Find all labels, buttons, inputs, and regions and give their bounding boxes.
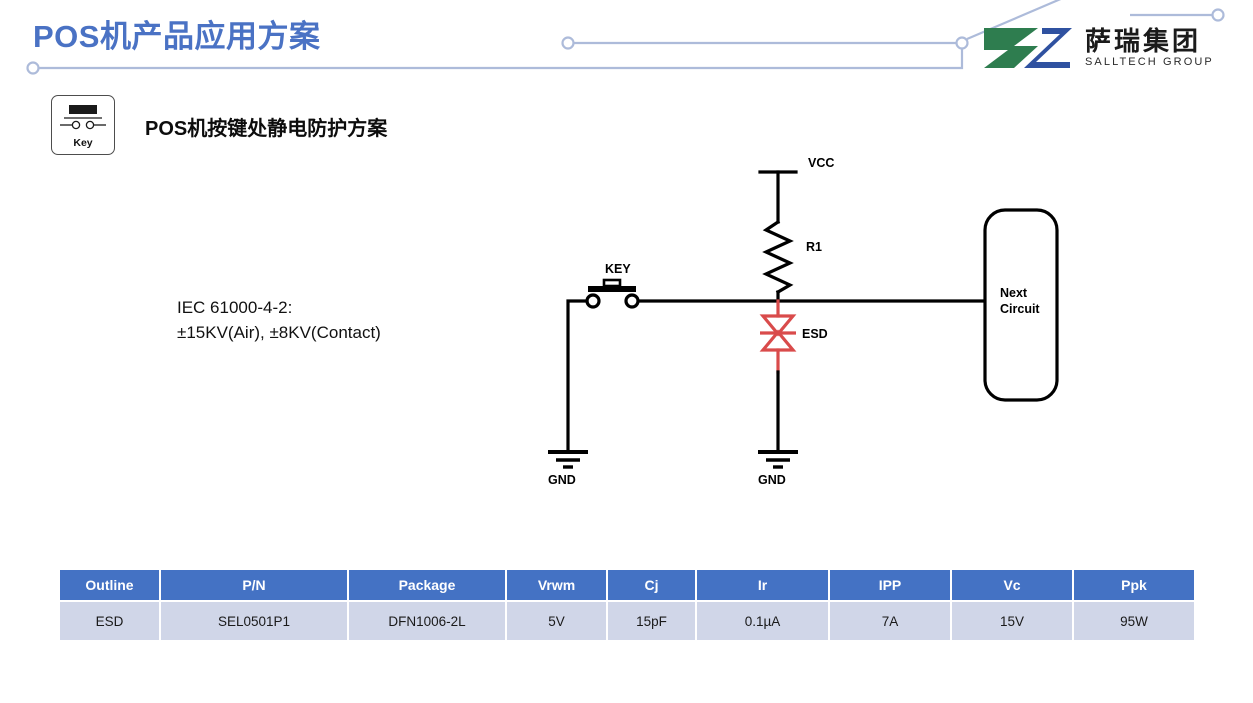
section-heading: POS机按键处静电防护方案 [145,112,387,141]
gnd-symbol-left [548,452,588,467]
key-cap-top [604,280,620,286]
gnd-right-label: GND [758,473,786,487]
esd-standard-line1: IEC 61000-4-2: [177,296,381,321]
logo-name-en: SALLTECH GROUP [1085,57,1214,68]
key-badge-label: Key [52,137,114,149]
slide-root: POS机产品应用方案 萨瑞集团 SALLTECH GROUP Key POS机按… [0,0,1253,703]
table-col-outline: Outline [60,570,159,600]
vcc-branch [760,172,796,301]
key-contact-right [626,295,638,307]
section-heading-latin: POS [145,118,187,140]
table-col-cj: Cj [608,570,695,600]
table-col-package: Package [349,570,505,600]
cell-ppk: 95W [1074,602,1194,640]
key-label: KEY [605,262,631,276]
table-row: ESD SEL0501P1 DFN1006-2L 5V 15pF 0.1µA 7… [60,602,1194,640]
wire-key-to-gnd [568,301,587,452]
next-circuit-label-line1: Next [1000,286,1028,300]
table-col-vrwm: Vrwm [507,570,606,600]
cell-cj: 15pF [608,602,695,640]
circuit-schematic: VCC R1 KEY [520,140,1120,520]
logo-green-shape [984,28,1038,68]
key-switch-icon [52,96,114,138]
esd-label: ESD [802,327,828,341]
cell-ir: 0.1µA [697,602,828,640]
cell-vc: 15V [952,602,1072,640]
logo-name-cn: 萨瑞集团 [1085,28,1214,54]
cell-outline: ESD [60,602,159,640]
deco-dot-top-right [1213,10,1224,21]
salltech-logo-mark [980,24,1076,72]
table-col-ipp: IPP [830,570,950,600]
esd-standard-line2: ±15KV(Air), ±8KV(Contact) [177,321,381,346]
table-col-vc: Vc [952,570,1072,600]
key-contact-left [587,295,599,307]
brand-logo: 萨瑞集团 SALLTECH GROUP [980,24,1214,72]
cell-package: DFN1006-2L [349,602,505,640]
esd-diode-symbol [760,316,796,350]
vcc-label: VCC [808,156,834,170]
deco-dot-junction [957,38,968,49]
page-title: POS机产品应用方案 [33,11,320,56]
esd-standard-note: IEC 61000-4-2: ±15KV(Air), ±8KV(Contact) [177,296,381,345]
key-switch-symbol [587,280,638,307]
deco-dot-left [28,63,39,74]
cell-pn: SEL0501P1 [161,602,347,640]
left-ground-branch [568,301,587,452]
table-col-ir: Ir [697,570,828,600]
key-badge: Key [51,95,115,155]
next-circuit-label-line2: Circuit [1000,302,1040,316]
gnd-symbol-right [758,452,798,467]
section-heading-cn: 机按键处静电防护方案 [187,118,387,140]
spec-table: Outline P/N Package Vrwm Cj Ir IPP Vc Pp… [58,568,1196,642]
table-col-ppk: Ppk [1074,570,1194,600]
gnd-left-label: GND [548,473,576,487]
deco-dot-middle [563,38,574,49]
table-header-row: Outline P/N Package Vrwm Cj Ir IPP Vc Pp… [60,570,1194,600]
cell-ipp: 7A [830,602,950,640]
resistor-r1-symbol [766,222,790,292]
table-col-pn: P/N [161,570,347,600]
r1-label: R1 [806,240,822,254]
logo-wordmark: 萨瑞集团 SALLTECH GROUP [1085,28,1214,68]
cell-vrwm: 5V [507,602,606,640]
